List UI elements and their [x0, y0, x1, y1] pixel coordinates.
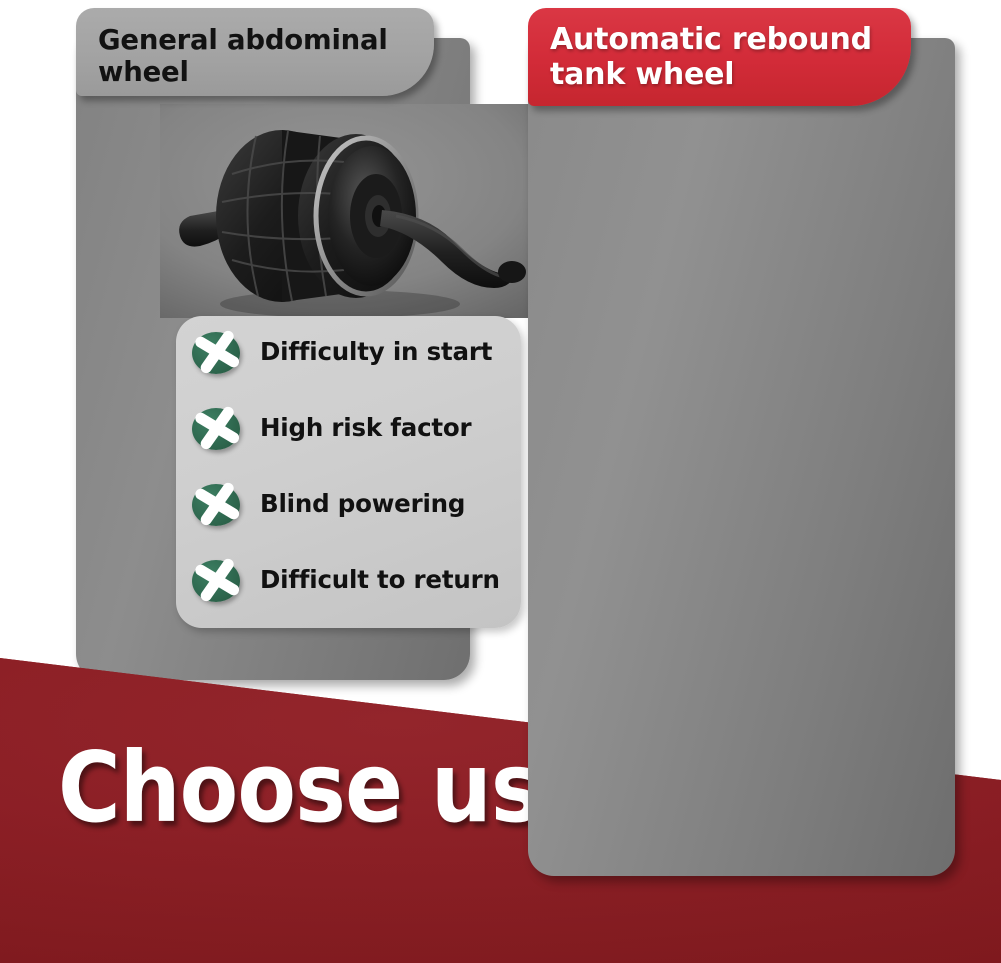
banner-headline: Choose us: [58, 742, 541, 834]
x-mark-glyph: [191, 477, 243, 529]
list-item-label: Difficulty in start: [260, 339, 492, 366]
list-item-label: Difficult to return: [260, 567, 500, 594]
right-product-panel: Automatic rebound tank wheel All stages …: [528, 8, 955, 876]
left-panel-header: General abdominal wheel: [76, 8, 434, 96]
left-feature-card: Difficulty in start High risk factor: [176, 316, 521, 628]
left-panel-title: General abdominal wheel: [98, 24, 416, 89]
list-item-label: Blind powering: [260, 491, 465, 518]
right-panel-title: Automatic rebound tank wheel: [550, 22, 895, 93]
right-panel-header: Automatic rebound tank wheel: [528, 8, 911, 106]
x-mark-icon: [192, 482, 240, 526]
x-mark-glyph: [191, 553, 243, 605]
comparison-infographic: General abdominal wheel Difficulty in st…: [0, 0, 1001, 963]
left-product-panel: General abdominal wheel Difficulty in st…: [76, 8, 470, 680]
x-mark-icon: [192, 330, 240, 374]
right-panel-body: [528, 38, 955, 876]
list-item: Difficult to return: [192, 558, 500, 602]
ab-wheel-illustration: [160, 104, 538, 318]
x-mark-glyph: [191, 401, 243, 453]
list-item: High risk factor: [192, 406, 471, 450]
list-item: Blind powering: [192, 482, 465, 526]
list-item-label: High risk factor: [260, 415, 471, 442]
x-mark-glyph: [191, 325, 243, 377]
general-abdominal-wheel-photo: [160, 104, 538, 318]
list-item: Difficulty in start: [192, 330, 492, 374]
x-mark-icon: [192, 406, 240, 450]
x-mark-icon: [192, 558, 240, 602]
